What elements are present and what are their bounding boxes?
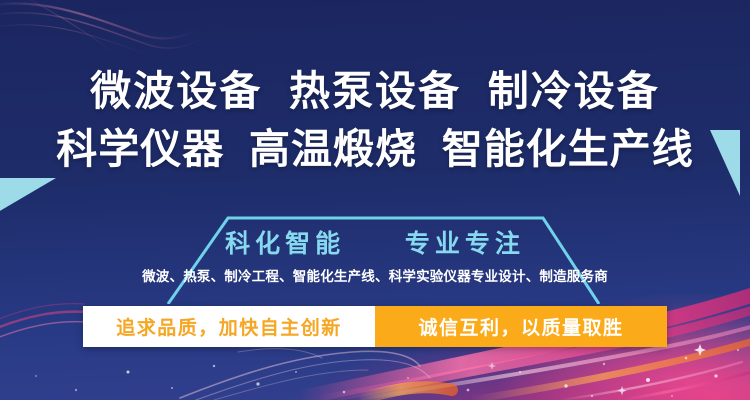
page-title: 微波设备 热泵设备 制冷设备 科学仪器 高温煅烧 智能化生产线 (0, 62, 750, 178)
headline-line-1: 微波设备 热泵设备 制冷设备 (0, 62, 750, 120)
left-arrow-icon (0, 178, 56, 212)
light-wisps (180, 349, 430, 400)
sparkles (35, 344, 739, 397)
promotional-banner: 微波设备 热泵设备 制冷设备 科学仪器 高温煅烧 智能化生产线 科化智能 专业专… (0, 0, 750, 400)
slogan-right[interactable]: 诚信互利，以质量取胜 (375, 306, 667, 347)
left-pink-streaks (0, 304, 86, 340)
slogan-left[interactable]: 追求品质，加快自主创新 (83, 306, 375, 347)
slogan-bar-group: 追求品质，加快自主创新 诚信互利，以质量取胜 (83, 306, 667, 347)
tagline-primary: 科化智能 专业专注 (0, 224, 750, 260)
tagline-secondary: 微波、热泵、制冷工程、智能化生产线、科学实验仪器专业设计、制造服务商 (0, 265, 750, 285)
top-light-streaks (0, 0, 204, 56)
headline-line-2: 科学仪器 高温煅烧 智能化生产线 (0, 120, 750, 178)
